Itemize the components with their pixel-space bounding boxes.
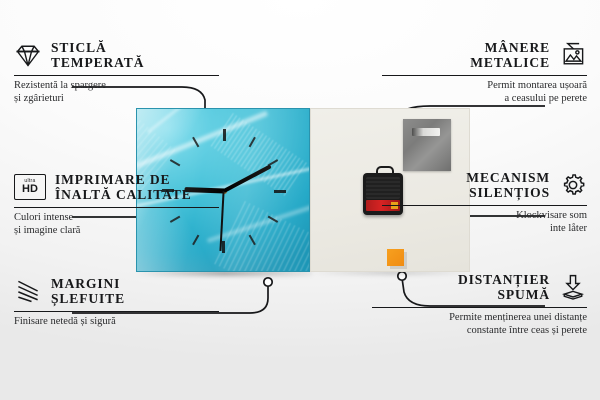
feature-title: STICLĂ TEMPERATĂ xyxy=(51,40,144,70)
feature-title: MARGINI ȘLEFUITE xyxy=(51,276,125,306)
foam-spacer xyxy=(387,249,404,266)
diamond-icon xyxy=(14,41,42,69)
feature-subtitle: Klockvisare som inte låter xyxy=(372,210,587,235)
feature-print: ultraHD IMPRIMARE DE ÎNALTĂ CALITATE Cul… xyxy=(14,172,229,237)
endpoint-edges xyxy=(264,278,272,286)
feature-subtitle: Finisare netedă și sigură xyxy=(14,316,229,329)
divider xyxy=(382,205,587,206)
clock-tick xyxy=(224,190,286,192)
picture-frame-icon xyxy=(559,41,587,69)
divider xyxy=(382,75,587,76)
feature-subtitle: Culori intense și imagine clară xyxy=(14,212,229,237)
foam-spacer-icon xyxy=(559,273,587,301)
divider xyxy=(14,207,219,208)
feature-spacer: DISTANȚIER SPUMĂ Permite menținerea unei… xyxy=(372,272,587,337)
infographic-canvas: STICLĂ TEMPERATĂ Rezistentă la spargere … xyxy=(0,0,600,400)
hanger-keyhole-slot xyxy=(412,128,440,136)
feature-title: MÂNERE METALICE xyxy=(470,40,550,70)
feature-subtitle: Rezistentă la spargere și zgârieturi xyxy=(14,80,229,105)
feature-title: MECANISM SILENȚIOS xyxy=(466,170,550,200)
divider xyxy=(14,75,219,76)
divider xyxy=(372,307,587,308)
divider xyxy=(14,311,219,312)
metal-hanger-plate xyxy=(403,119,451,171)
feature-mechanism: MECANISM SILENȚIOS Klockvisare som inte … xyxy=(372,170,587,235)
feature-handles: MÂNERE METALICE Permit montarea ușoară a… xyxy=(372,40,587,105)
feature-title: IMPRIMARE DE ÎNALTĂ CALITATE xyxy=(55,172,192,202)
feature-title: DISTANȚIER SPUMĂ xyxy=(458,272,550,302)
gear-icon xyxy=(559,171,587,199)
ultra-hd-icon: ultraHD xyxy=(14,174,46,200)
feature-glass: STICLĂ TEMPERATĂ Rezistentă la spargere … xyxy=(14,40,229,105)
feature-edges: MARGINI ȘLEFUITE Finisare netedă și sigu… xyxy=(14,276,229,329)
feature-subtitle: Permite menținerea unei distanțe constan… xyxy=(372,312,587,337)
polished-edges-icon xyxy=(14,277,42,305)
feature-subtitle: Permit montarea ușoară a ceasului pe per… xyxy=(372,80,587,105)
